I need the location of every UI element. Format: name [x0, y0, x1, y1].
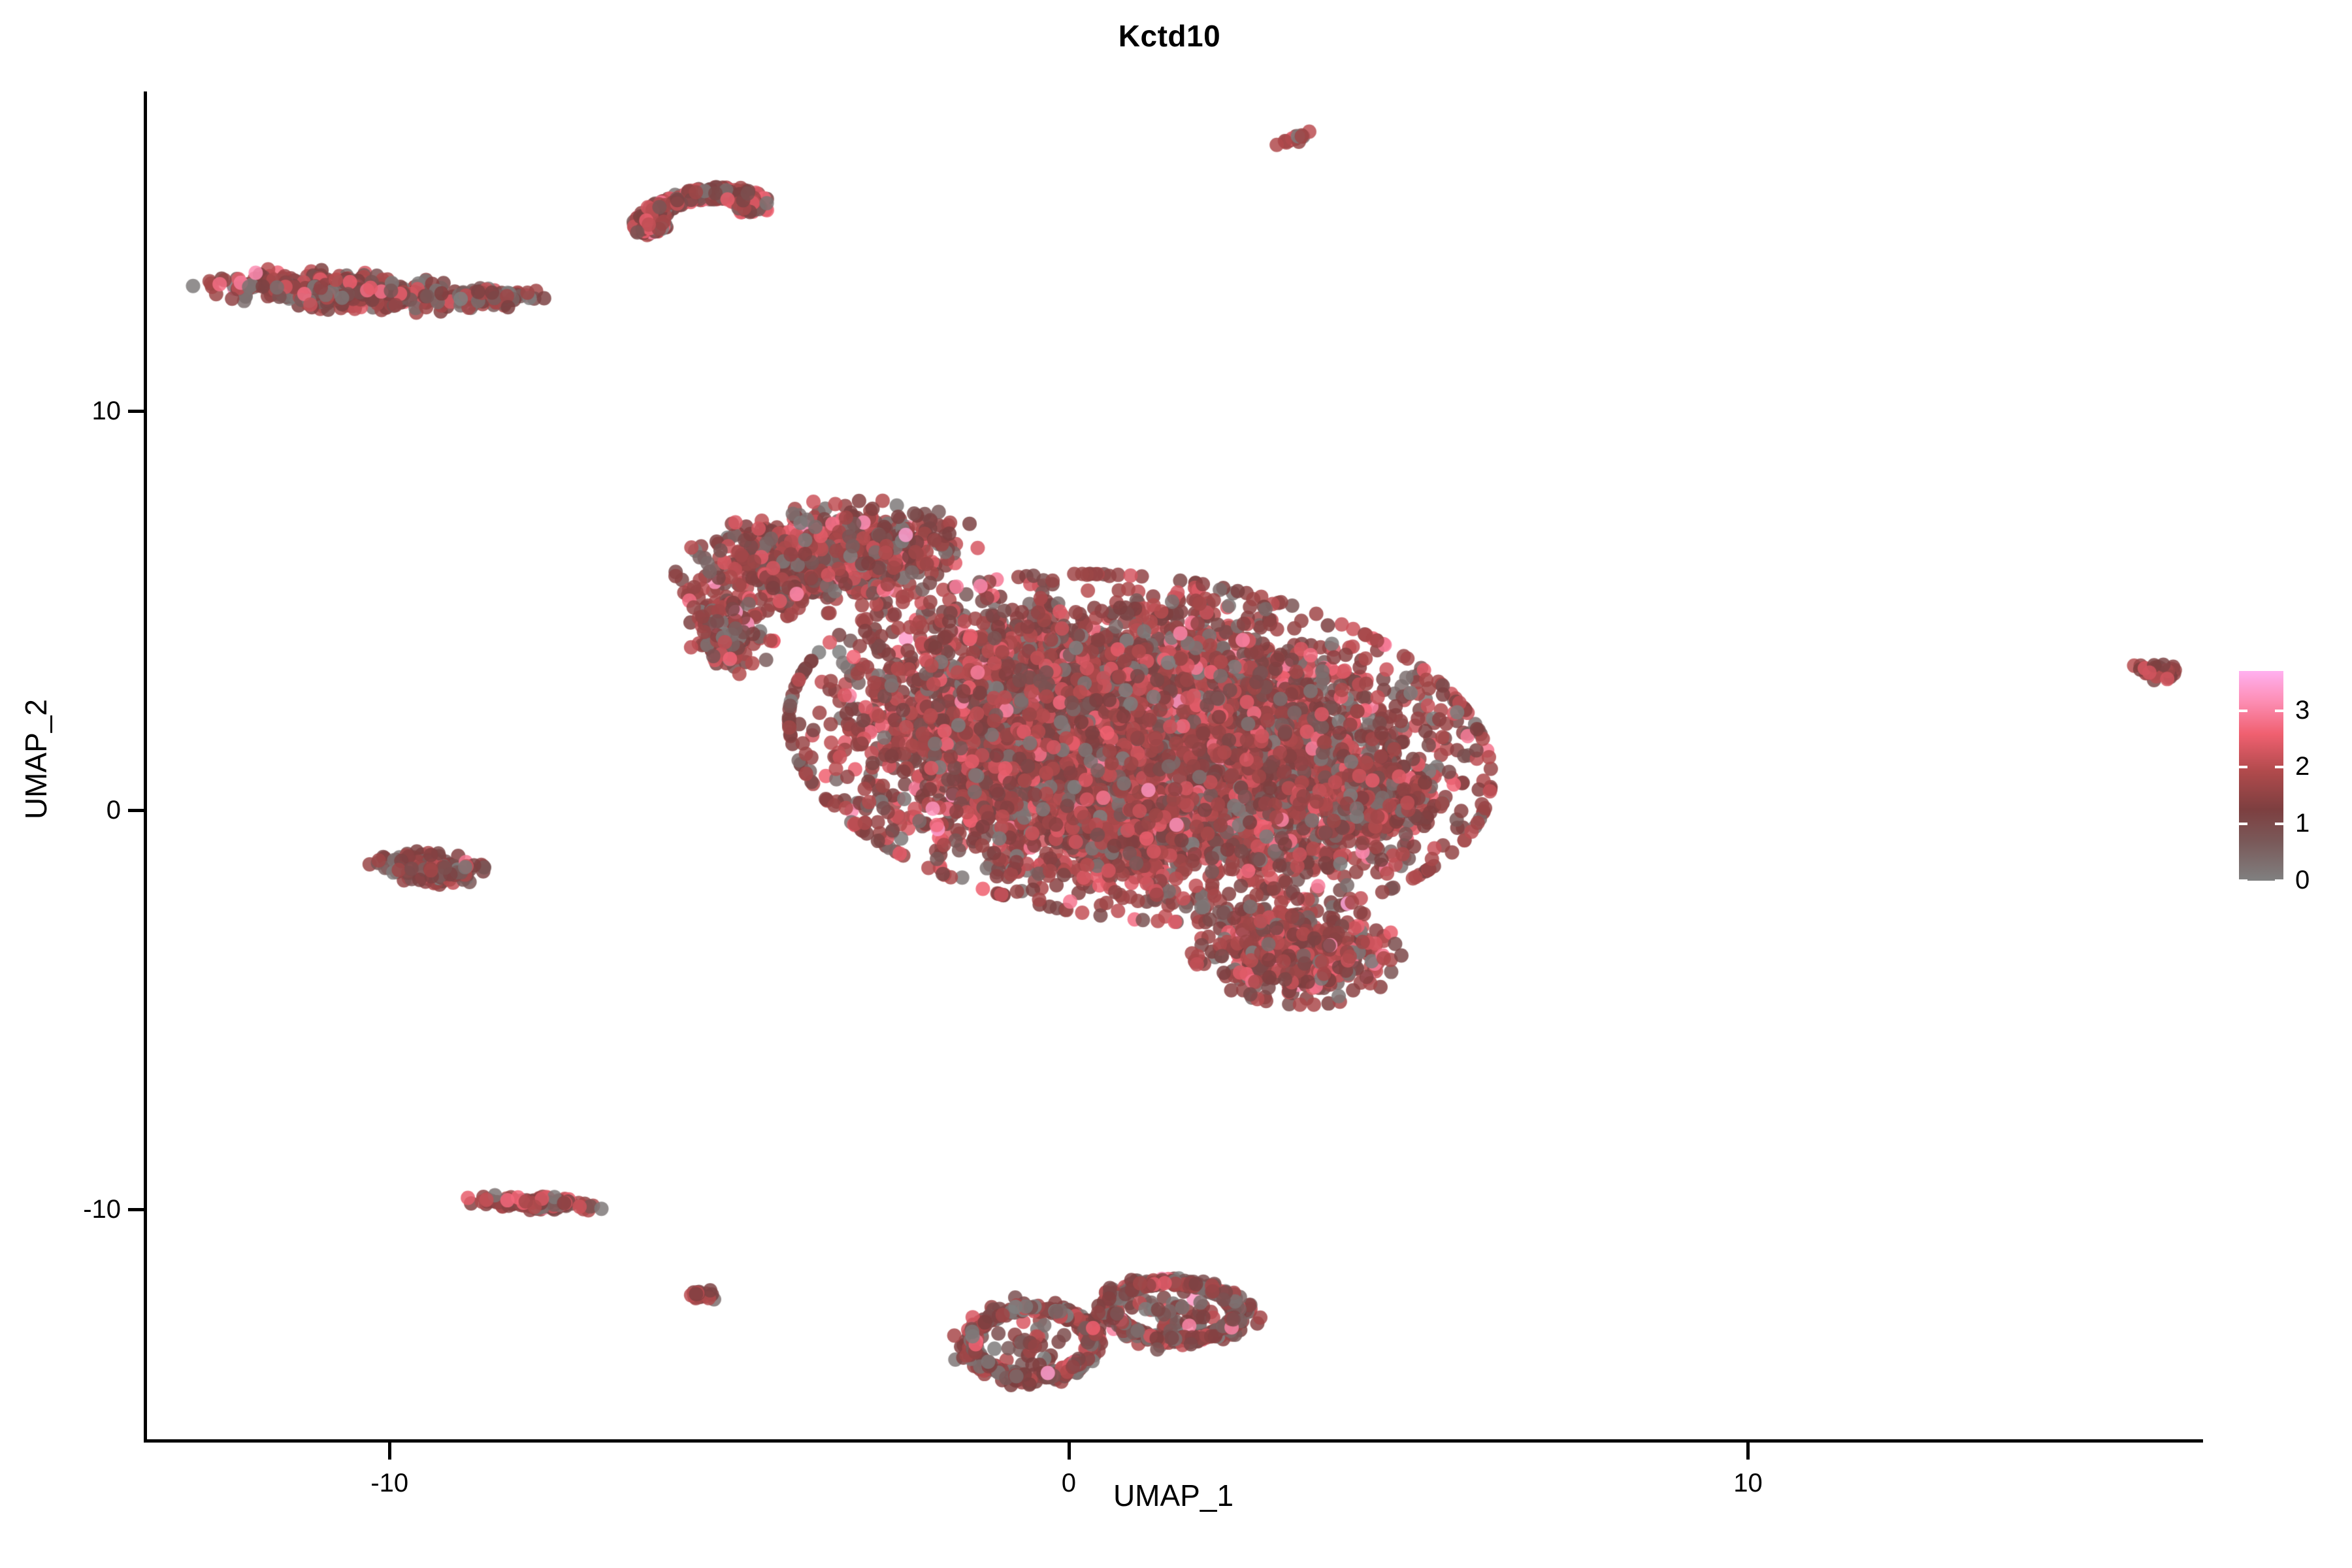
colorbar-legend[interactable]: 3210: [2239, 671, 2344, 883]
x-tick-mark: [1068, 1443, 1071, 1460]
colorbar-tick-mark: [2239, 823, 2247, 825]
y-axis-title: UMAP_2: [18, 596, 54, 923]
colorbar-label: 2: [2295, 752, 2310, 781]
y-axis-line: [144, 91, 147, 1441]
colorbar-gradient: [2239, 671, 2283, 881]
y-tick-label: 0: [106, 796, 121, 825]
x-tick-mark: [388, 1443, 391, 1460]
colorbar-label: 0: [2295, 866, 2310, 895]
colorbar-tick-mark: [2275, 710, 2283, 712]
colorbar-tick-mark: [2275, 879, 2283, 882]
colorbar-tick-mark: [2239, 710, 2247, 712]
y-tick-label: -10: [83, 1195, 121, 1224]
x-axis-title: UMAP_1: [144, 1478, 2203, 1513]
colorbar-label: 1: [2295, 809, 2310, 838]
colorbar-tick-mark: [2275, 823, 2283, 825]
y-tick-label: 10: [92, 397, 122, 426]
umap-feature-plot: Kctd10 100-10-10010 UMAP_1 UMAP_2 3210: [0, 0, 2352, 1568]
colorbar-tick-mark: [2239, 879, 2247, 882]
x-axis-line: [144, 1439, 2203, 1443]
y-tick-mark: [128, 410, 145, 413]
y-tick-mark: [128, 1208, 145, 1211]
scatter-canvas: [145, 91, 2203, 1441]
x-tick-mark: [1746, 1443, 1750, 1460]
colorbar-tick-mark: [2275, 766, 2283, 768]
plot-panel: [145, 91, 2203, 1441]
y-tick-mark: [128, 809, 145, 812]
colorbar-label: 3: [2295, 696, 2310, 725]
page-title: Kctd10: [0, 18, 2345, 54]
colorbar-tick-mark: [2239, 766, 2247, 768]
